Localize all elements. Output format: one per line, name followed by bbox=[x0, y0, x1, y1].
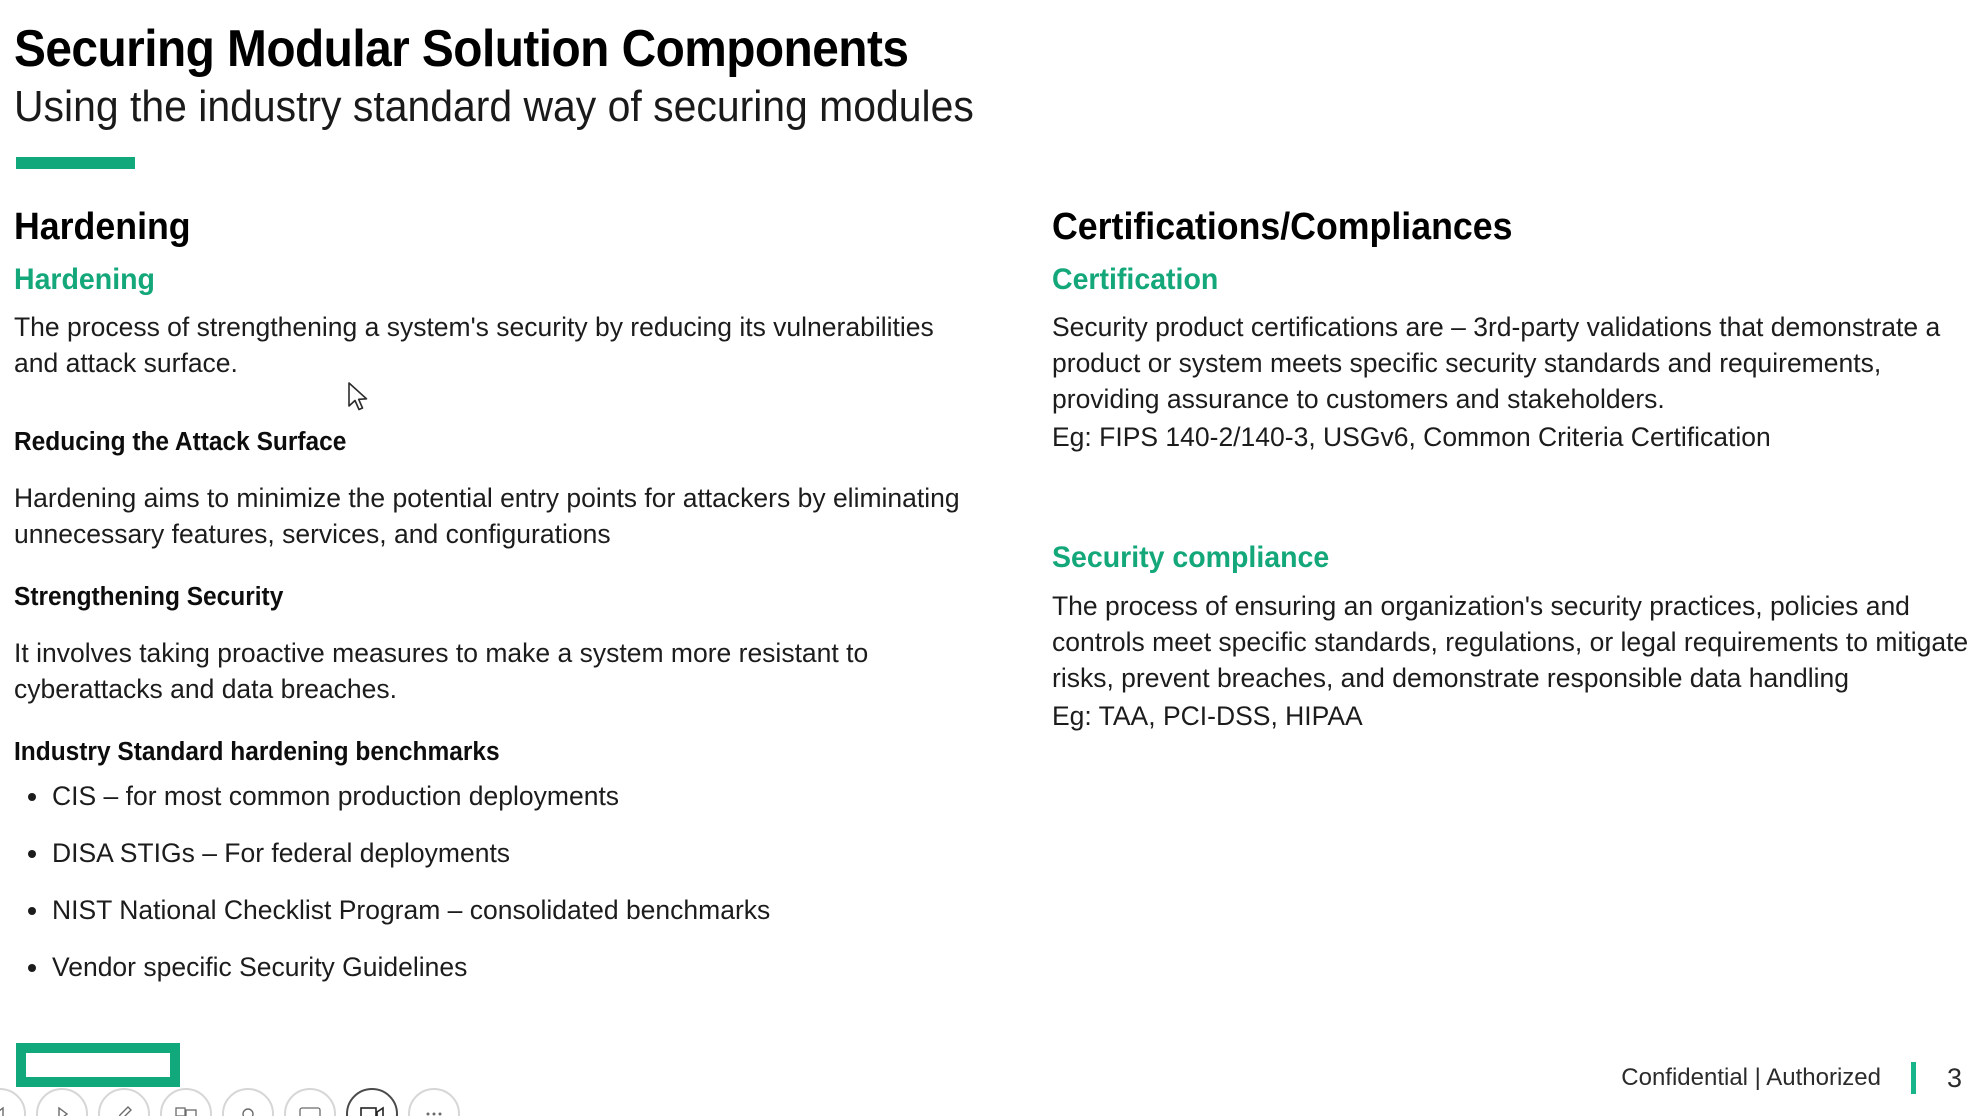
bullet-dot-icon bbox=[28, 793, 36, 801]
confidentiality-label: Confidential | Authorized bbox=[1621, 1064, 1881, 1092]
list-item-label: Vendor specific Security Guidelines bbox=[52, 952, 467, 982]
laser-pointer-button[interactable] bbox=[222, 1088, 274, 1116]
right-column-heading: Certifications/Compliances bbox=[1052, 207, 1917, 249]
presenter-view-icon bbox=[175, 1105, 197, 1116]
certification-subheading: Certification bbox=[1052, 263, 1926, 298]
laser-pointer-icon bbox=[239, 1105, 257, 1116]
page-title: Securing Modular Solution Components bbox=[14, 22, 1762, 76]
security-compliance-example: Eg: TAA, PCI-DSS, HIPAA bbox=[1052, 698, 1972, 734]
hpe-logo bbox=[16, 1043, 180, 1087]
spacer bbox=[14, 458, 974, 480]
list-item: NIST National Checklist Program – consol… bbox=[14, 895, 974, 927]
spacer bbox=[14, 381, 974, 427]
previous-slide-icon bbox=[0, 1105, 9, 1116]
page-number: 3 bbox=[1944, 1063, 1962, 1094]
section-body-attack-surface: Hardening aims to minimize the potential… bbox=[14, 480, 974, 552]
spacer bbox=[14, 707, 974, 737]
more-options-button[interactable] bbox=[408, 1088, 460, 1116]
slide-canvas: Securing Modular Solution Components Usi… bbox=[0, 0, 1980, 1116]
play-slide-button[interactable] bbox=[36, 1088, 88, 1116]
hardening-intro-paragraph: The process of strengthening a system's … bbox=[14, 309, 974, 381]
play-slide-icon bbox=[53, 1105, 71, 1116]
list-item-label: DISA STIGs – For federal deployments bbox=[52, 838, 510, 868]
list-item-label: CIS – for most common production deploym… bbox=[52, 781, 619, 811]
left-column: Hardening Hardening The process of stren… bbox=[14, 207, 974, 1008]
section-heading-strengthening-security: Strengthening Security bbox=[14, 582, 936, 613]
left-column-heading: Hardening bbox=[14, 207, 916, 249]
pen-button[interactable] bbox=[98, 1088, 150, 1116]
slide-footer: Confidential | Authorized 3 bbox=[1621, 1062, 1962, 1094]
benchmarks-heading: Industry Standard hardening benchmarks bbox=[14, 737, 936, 768]
presenter-view-button[interactable] bbox=[160, 1088, 212, 1116]
spacer bbox=[14, 552, 974, 582]
pen-icon bbox=[114, 1104, 134, 1116]
title-accent-rule bbox=[16, 157, 135, 169]
certification-body: Security product certifications are – 3r… bbox=[1052, 309, 1972, 417]
list-item: Vendor specific Security Guidelines bbox=[14, 952, 974, 984]
title-block: Securing Modular Solution Components Usi… bbox=[14, 22, 1914, 131]
benchmark-list: CIS – for most common production deploym… bbox=[14, 781, 974, 983]
right-column: Certifications/Compliances Certification… bbox=[1052, 207, 1972, 734]
subtitles-button[interactable] bbox=[284, 1088, 336, 1116]
security-compliance-body: The process of ensuring an organization'… bbox=[1052, 588, 1972, 696]
page-subtitle: Using the industry standard way of secur… bbox=[14, 82, 1781, 131]
section-body-strengthening-security: It involves taking proactive measures to… bbox=[14, 635, 974, 707]
list-item: DISA STIGs – For federal deployments bbox=[14, 838, 974, 870]
footer-divider bbox=[1911, 1062, 1916, 1094]
list-item-label: NIST National Checklist Program – consol… bbox=[52, 895, 770, 925]
section-heading-attack-surface: Reducing the Attack Surface bbox=[14, 427, 936, 458]
spacer bbox=[1052, 455, 1972, 541]
camera-button[interactable] bbox=[346, 1088, 398, 1116]
subtitles-icon bbox=[299, 1106, 321, 1116]
list-item: CIS – for most common production deploym… bbox=[14, 781, 974, 813]
more-options-icon bbox=[425, 1111, 443, 1116]
bullet-dot-icon bbox=[28, 907, 36, 915]
previous-slide-button[interactable] bbox=[0, 1088, 26, 1116]
bullet-dot-icon bbox=[28, 964, 36, 972]
presenter-toolbar[interactable] bbox=[0, 1088, 470, 1116]
security-compliance-subheading: Security compliance bbox=[1052, 541, 1926, 576]
camera-icon bbox=[360, 1106, 384, 1116]
bullet-dot-icon bbox=[28, 850, 36, 858]
certification-example: Eg: FIPS 140-2/140-3, USGv6, Common Crit… bbox=[1052, 419, 1972, 455]
spacer bbox=[14, 613, 974, 635]
left-green-subheading: Hardening bbox=[14, 263, 926, 298]
